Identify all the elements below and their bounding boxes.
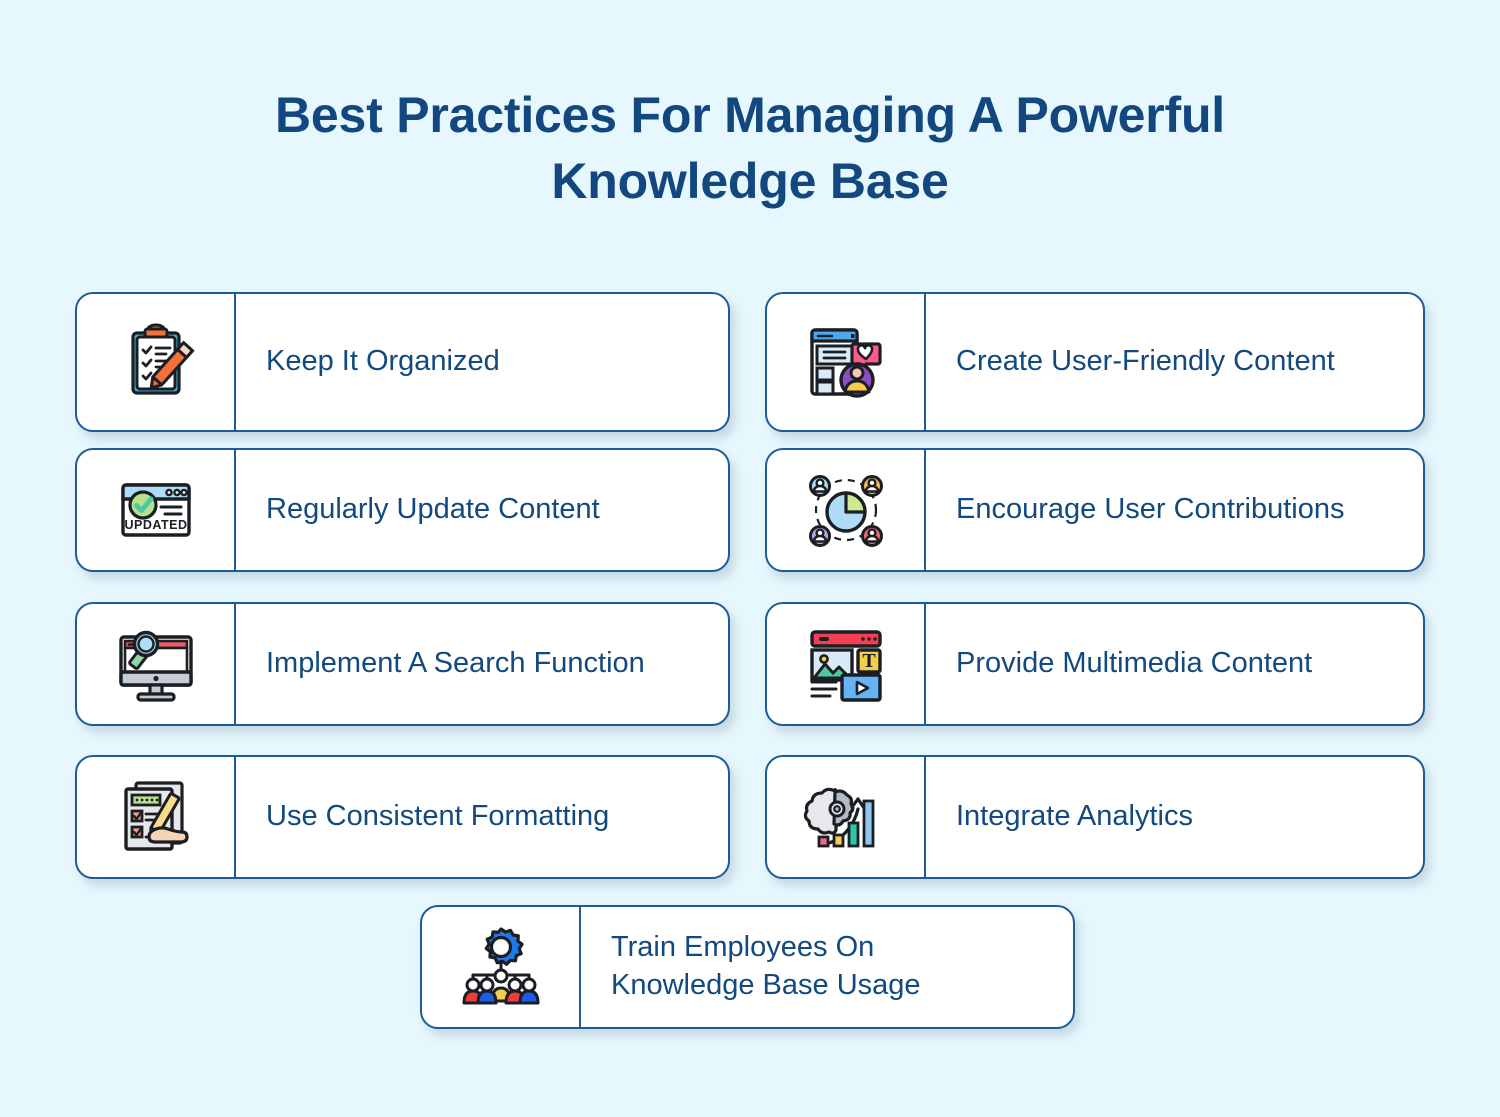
- monitor-magnifier-icon: [77, 604, 236, 724]
- practice-card-create-user-friendly-content[interactable]: Create User-Friendly Content: [765, 292, 1425, 432]
- page-title-line-2: Knowledge Base: [551, 153, 948, 209]
- practice-card-regularly-update-content[interactable]: UPDATED Regularly Update Content: [75, 448, 730, 572]
- webpage-heart-user-icon: [767, 294, 926, 430]
- pie-chart-users-network-icon: [767, 450, 926, 570]
- practice-label: Train Employees On Knowledge Base Usage: [581, 907, 1073, 1027]
- document-hand-pencil-icon: [77, 757, 236, 877]
- infographic-page: Best Practices For Managing A Powerful K…: [0, 0, 1500, 1117]
- practice-card-provide-multimedia-content[interactable]: T Provide Multimedia Content: [765, 602, 1425, 726]
- practice-label: Create User-Friendly Content: [926, 294, 1423, 430]
- practice-label: Encourage User Contributions: [926, 450, 1423, 570]
- browser-updated-check-icon: UPDATED: [77, 450, 236, 570]
- practice-card-implement-a-search-function[interactable]: Implement A Search Function: [75, 602, 730, 726]
- practice-card-train-employees-on-knowledge-base-usage[interactable]: Train Employees On Knowledge Base Usage: [420, 905, 1075, 1029]
- practice-label: Regularly Update Content: [236, 450, 728, 570]
- practice-label: Provide Multimedia Content: [926, 604, 1423, 724]
- svg-text:UPDATED: UPDATED: [124, 518, 187, 532]
- practice-label: Use Consistent Formatting: [236, 757, 728, 877]
- practice-card-encourage-user-contributions[interactable]: Encourage User Contributions: [765, 448, 1425, 572]
- brain-gear-bar-chart-icon: [767, 757, 926, 877]
- practice-label: Keep It Organized: [236, 294, 728, 430]
- page-title-line-1: Best Practices For Managing A Powerful: [275, 87, 1225, 143]
- clipboard-checklist-pencil-icon: [77, 294, 236, 430]
- practice-card-keep-it-organized[interactable]: Keep It Organized: [75, 292, 730, 432]
- practice-label: Integrate Analytics: [926, 757, 1423, 877]
- practice-label-line-1: Train Employees On: [611, 931, 874, 963]
- gear-org-chart-people-icon: [422, 907, 581, 1027]
- practice-card-integrate-analytics[interactable]: Integrate Analytics: [765, 755, 1425, 879]
- practice-label: Implement A Search Function: [236, 604, 728, 724]
- svg-text:T: T: [862, 650, 876, 672]
- practice-label-line-2: Knowledge Base Usage: [611, 969, 921, 1001]
- practice-card-use-consistent-formatting[interactable]: Use Consistent Formatting: [75, 755, 730, 879]
- media-image-text-video-icon: T: [767, 604, 926, 724]
- page-title: Best Practices For Managing A Powerful K…: [170, 82, 1330, 214]
